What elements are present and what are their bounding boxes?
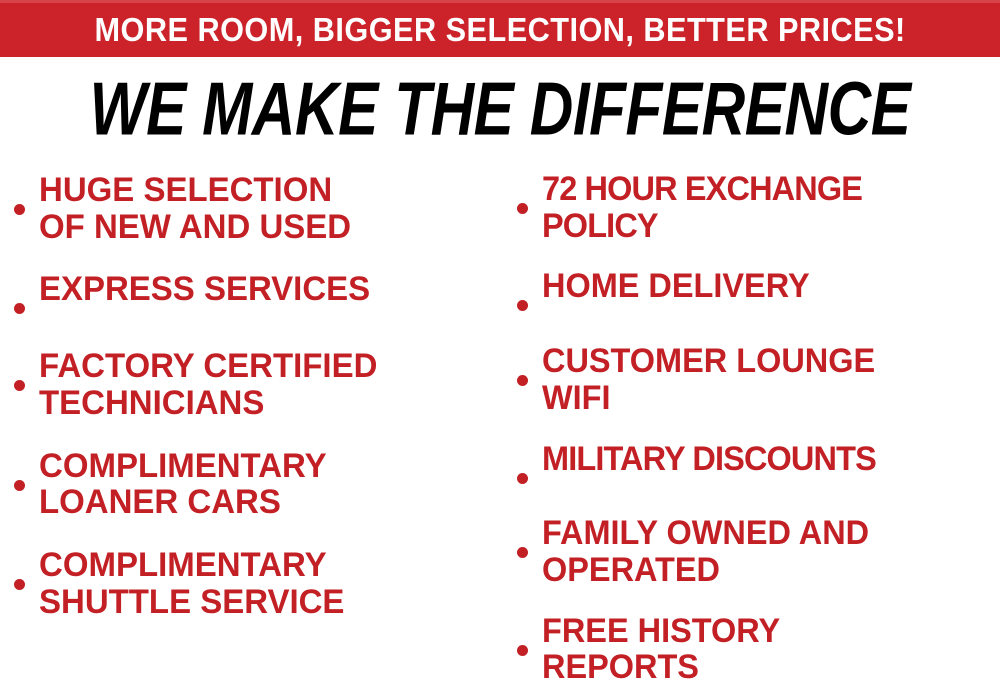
list-item-label: CUSTOMER LOUNGE WIFI: [542, 343, 979, 416]
bullet-dot-icon: [517, 282, 538, 319]
list-item-label: FREE HISTORY REPORTS: [542, 613, 979, 686]
list-item-label: HUGE SELECTION OF NEW AND USED: [39, 172, 486, 245]
list-item: HUGE SELECTION OF NEW AND USED: [14, 172, 500, 245]
list-item: FACTORY CERTIFIED TECHNICIANS: [14, 348, 500, 421]
list-item: HOME DELIVERY: [517, 268, 1000, 319]
promotional-banner: MORE ROOM, BIGGER SELECTION, BETTER PRIC…: [0, 0, 1000, 694]
list-item-label: FACTORY CERTIFIED TECHNICIANS: [39, 348, 486, 421]
benefits-column-left: HUGE SELECTION OF NEW AND USED EXPRESS S…: [14, 156, 500, 694]
header-banner-bar: MORE ROOM, BIGGER SELECTION, BETTER PRIC…: [0, 0, 1000, 57]
list-item: CUSTOMER LOUNGE WIFI: [517, 343, 1000, 416]
bullet-dot-icon: [14, 285, 35, 322]
bullet-dot-icon: [517, 357, 538, 394]
list-item-label: HOME DELIVERY: [542, 268, 979, 305]
list-item-label: FAMILY OWNED AND OPERATED: [542, 515, 979, 588]
list-item: FAMILY OWNED AND OPERATED: [517, 515, 1000, 588]
list-item: EXPRESS SERVICES: [14, 271, 500, 322]
list-item: 72 HOUR EXCHANGE POLICY: [517, 171, 1000, 244]
list-item-label: MILITARY DISCOUNTS: [542, 441, 979, 478]
page-title: WE MAKE THE DIFFERENCE: [0, 72, 1000, 139]
page-title-text: WE MAKE THE DIFFERENCE: [90, 72, 911, 147]
bullet-dot-icon: [517, 185, 538, 222]
list-item-label: COMPLIMENTARY SHUTTLE SERVICE: [39, 547, 486, 620]
bullet-dot-icon: [517, 529, 538, 566]
bullet-dot-icon: [517, 455, 538, 492]
list-item: COMPLIMENTARY SHUTTLE SERVICE: [14, 547, 500, 620]
header-tagline: MORE ROOM, BIGGER SELECTION, BETTER PRIC…: [94, 13, 905, 46]
bullet-dot-icon: [14, 561, 35, 598]
benefits-column-right: 72 HOUR EXCHANGE POLICY HOME DELIVERY CU…: [517, 156, 1000, 694]
list-item: FREE HISTORY REPORTS: [517, 613, 1000, 686]
bullet-dot-icon: [14, 186, 35, 223]
benefits-columns: HUGE SELECTION OF NEW AND USED EXPRESS S…: [0, 156, 1000, 694]
list-item: MILITARY DISCOUNTS: [517, 441, 1000, 492]
list-item-label: 72 HOUR EXCHANGE POLICY: [542, 171, 979, 244]
bullet-dot-icon: [14, 362, 35, 399]
bullet-dot-icon: [14, 462, 35, 499]
list-item-label: COMPLIMENTARY LOANER CARS: [39, 448, 486, 521]
list-item-label: EXPRESS SERVICES: [39, 271, 486, 308]
list-item: COMPLIMENTARY LOANER CARS: [14, 448, 500, 521]
bullet-dot-icon: [517, 627, 538, 664]
